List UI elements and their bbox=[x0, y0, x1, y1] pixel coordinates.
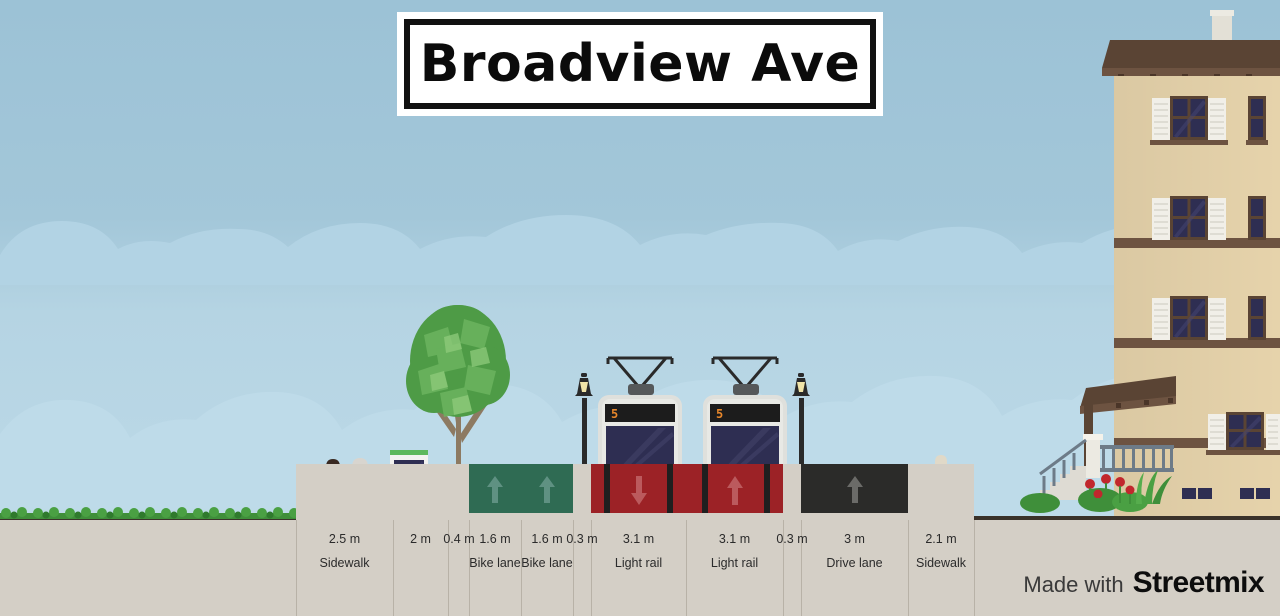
rail-left-a bbox=[604, 464, 610, 513]
segment-width: 2.5 m bbox=[296, 532, 393, 546]
segment-surface-light-rail-right[interactable] bbox=[686, 464, 783, 520]
segment-label-sidewalk-left[interactable]: 2.5 m Sidewalk bbox=[296, 520, 393, 616]
segment-width: 2.1 m bbox=[908, 532, 974, 546]
window-group-2 bbox=[1152, 196, 1266, 240]
segment-surface-bike-lane-right[interactable] bbox=[521, 464, 573, 520]
segment-width: 3 m bbox=[801, 532, 908, 546]
street-name-sign-inner: Broadview Ave bbox=[404, 19, 876, 109]
window-group-1 bbox=[1150, 96, 1268, 145]
segment-surface-sidewalk-tree[interactable] bbox=[393, 464, 448, 520]
segment-surface-divider-right[interactable] bbox=[783, 464, 801, 520]
street-cross-section bbox=[0, 464, 1280, 520]
rail-left-b bbox=[667, 464, 673, 513]
made-with-label: Made with bbox=[1023, 572, 1123, 598]
segment-name: Sidewalk bbox=[908, 556, 974, 570]
drive-arrow-up bbox=[846, 474, 864, 504]
segment-surface-divider-left[interactable] bbox=[448, 464, 469, 520]
light-rail-arrow-down-left bbox=[630, 474, 648, 506]
segment-surface-light-rail-left[interactable] bbox=[591, 464, 686, 520]
segment-name: Light rail bbox=[591, 556, 686, 570]
segment-name: Sidewalk bbox=[296, 556, 393, 570]
segment-surface-bike-lane-left[interactable] bbox=[469, 464, 521, 520]
rail-right-a bbox=[702, 464, 708, 513]
building-right bbox=[1040, 0, 1280, 520]
segment-name: Light rail bbox=[686, 556, 783, 570]
segment-name: Drive lane bbox=[801, 556, 908, 570]
bike-arrow-up-left bbox=[486, 474, 504, 504]
segment-name: Bike lane bbox=[469, 556, 521, 570]
segment-width: 3.1 m bbox=[686, 532, 783, 546]
segment-label-bike-lane-left[interactable]: 1.6 m Bike lane bbox=[469, 520, 521, 616]
segment-surface-divider-mid[interactable] bbox=[573, 464, 591, 520]
segment-label-strip: 2.5 m Sidewalk 2 m 0.4 m 1.6 m Bike lane… bbox=[0, 520, 1280, 616]
streetmix-branding: Made with Streetmix bbox=[1023, 566, 1264, 600]
tick-divider bbox=[974, 520, 975, 616]
segment-width: 1.6 m bbox=[469, 532, 521, 546]
streetmix-logo: Streetmix bbox=[1133, 566, 1264, 600]
segment-label-drive-lane[interactable]: 3 m Drive lane bbox=[801, 520, 908, 616]
segment-label-sidewalk-right[interactable]: 2.1 m Sidewalk bbox=[908, 520, 974, 616]
street-name-text: Broadview Ave bbox=[420, 38, 861, 90]
segment-width: 3.1 m bbox=[591, 532, 686, 546]
tram-route-number: 5 bbox=[611, 407, 618, 421]
light-rail-arrow-up-right bbox=[726, 474, 744, 506]
window-group-3 bbox=[1152, 296, 1266, 340]
segment-surface-sidewalk-left[interactable] bbox=[296, 464, 393, 520]
street-name-sign[interactable]: Broadview Ave bbox=[397, 12, 883, 116]
bike-arrow-up-right bbox=[538, 474, 556, 504]
segment-label-light-rail-left[interactable]: 3.1 m Light rail bbox=[591, 520, 686, 616]
segment-surface-sidewalk-right[interactable] bbox=[908, 464, 974, 520]
segment-label-light-rail-right[interactable]: 3.1 m Light rail bbox=[686, 520, 783, 616]
tram-route-number: 5 bbox=[716, 407, 723, 421]
segment-surface-drive-lane[interactable] bbox=[801, 464, 908, 520]
rail-right-b bbox=[764, 464, 770, 513]
